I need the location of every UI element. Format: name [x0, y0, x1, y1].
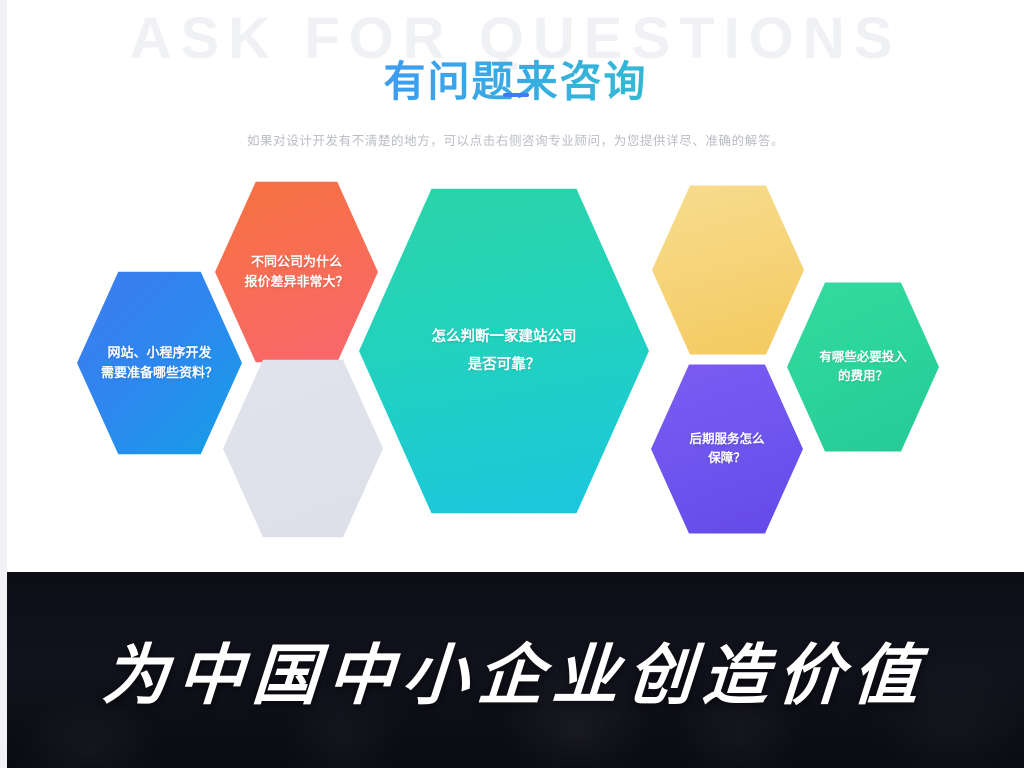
hexagon-decorative-gray — [223, 356, 383, 541]
banner-slogan: 为中国中小企业创造价值 — [7, 572, 1024, 768]
hexagon-label-line1: 怎么判断一家建站公司 — [432, 323, 577, 351]
page-title: 有问题来咨询 — [7, 55, 1024, 109]
hexagon-label-line1: 网站、小程序开发 — [107, 343, 211, 363]
hexagon-label-line2: 报价差异非常大？ — [244, 272, 348, 292]
hexagon-price-difference[interactable]: 不同公司为什么 报价差异非常大？ — [215, 178, 378, 366]
hexagon-judge-company[interactable]: 怎么判断一家建站公司 是否可靠？ — [359, 182, 649, 520]
hexagon-label-line2: 保障？ — [708, 449, 746, 468]
section-header: ASK FOR QUESTIONS 有问题来咨询 如果对设计开发有不清楚的地方，… — [7, 0, 1024, 160]
hexagon-cluster: 网站、小程序开发 需要准备哪些资料？ 不同公司为什么 报价差异非常大？ 怎么判断… — [7, 160, 1024, 572]
hexagon-necessary-costs[interactable]: 有哪些必要投入 的费用？ — [787, 279, 939, 455]
hexagon-website-materials[interactable]: 网站、小程序开发 需要准备哪些资料？ — [77, 268, 242, 458]
section-banner: 为中国中小企业创造价值 — [7, 572, 1024, 768]
page-subtitle: 如果对设计开发有不清楚的地方，可以点击右侧咨询专业顾问，为您提供详尽、准确的解答… — [7, 131, 1024, 151]
hexagon-label-line1: 不同公司为什么 — [251, 252, 342, 272]
title-underline-rule — [503, 93, 529, 97]
hexagon-after-sales-service[interactable]: 后期服务怎么 保障？ — [651, 361, 803, 537]
hexagon-label-line2: 需要准备哪些资料？ — [101, 363, 218, 383]
hexagon-label-line2: 是否可靠？ — [468, 351, 541, 379]
hexagon-label-line1: 有哪些必要投入 — [819, 348, 907, 367]
hexagon-label-line2: 的费用？ — [838, 367, 888, 386]
hexagon-decorative-yellow — [652, 182, 804, 358]
hexagon-label-line1: 后期服务怎么 — [689, 430, 764, 449]
page-root: ASK FOR QUESTIONS 有问题来咨询 如果对设计开发有不清楚的地方，… — [0, 0, 1024, 768]
